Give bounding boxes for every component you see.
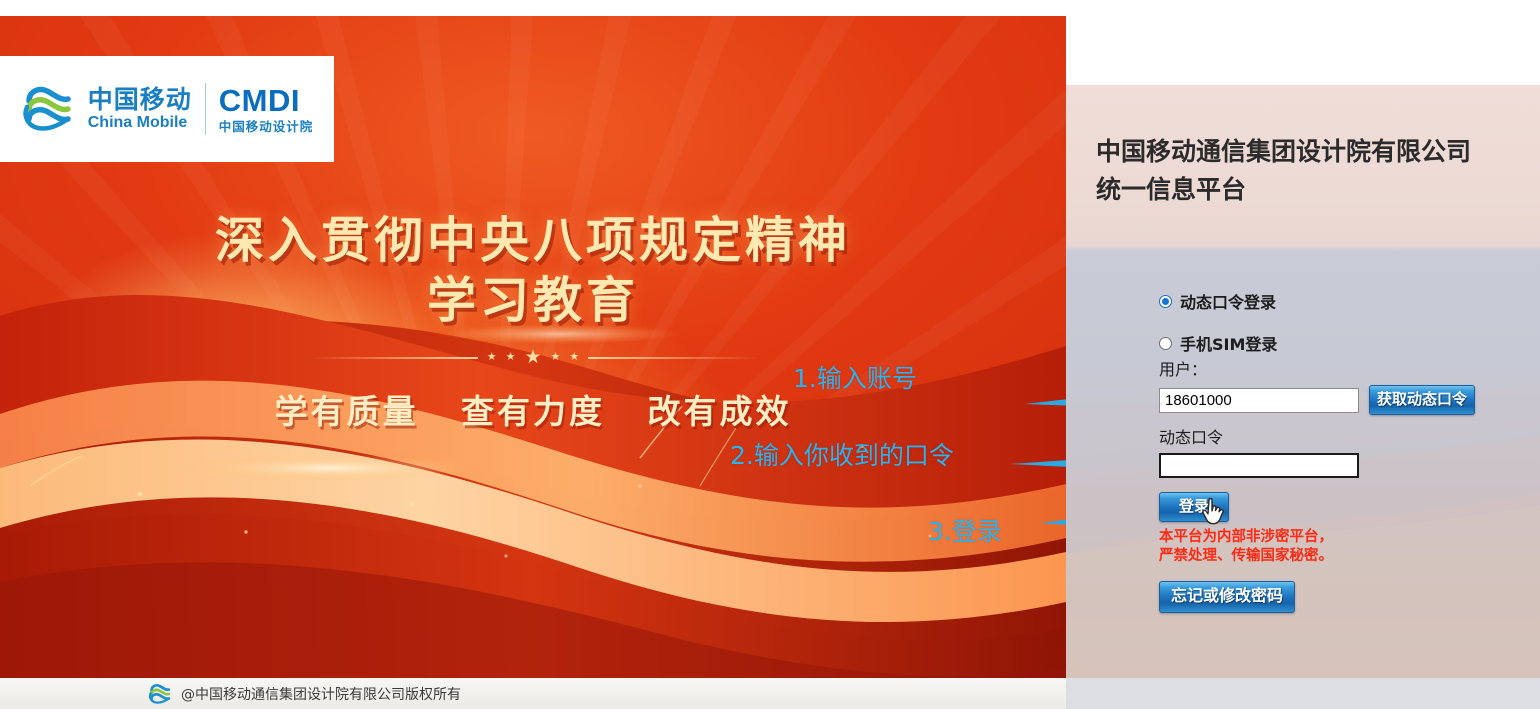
- login-panel: 中国移动通信集团设计院有限公司 统一信息平台 动态口令登录 手机SIM登录 用户…: [1066, 85, 1540, 678]
- panel-title-line-2: 统一信息平台: [1096, 171, 1516, 209]
- panel-title-line-1: 中国移动通信集团设计院有限公司: [1096, 133, 1516, 171]
- login-method-label-dynamic: 动态口令登录: [1180, 289, 1276, 313]
- security-warning-line-1: 本平台为内部非涉密平台，: [1159, 528, 1539, 547]
- top-white-strip: [0, 0, 1540, 16]
- logo-en-name: CMDI: [219, 85, 314, 116]
- footer-right-block: [1066, 678, 1540, 709]
- login-page: 深入贯彻中央八项规定精神 学习教育 ★ ★ ★ ★ ★ 学有质量 查有力度 改有…: [0, 0, 1540, 709]
- radio-dynamic-password-icon[interactable]: [1159, 295, 1172, 308]
- logo-en-sub: 中国移动设计院: [219, 121, 314, 134]
- login-method-dynamic-password[interactable]: 动态口令登录: [1159, 289, 1539, 313]
- radio-sim-icon[interactable]: [1159, 337, 1172, 350]
- logo-cn-sub: China Mobile: [88, 115, 192, 131]
- security-warning-line-2: 严禁处理、传输国家秘密。: [1159, 547, 1539, 566]
- token-input[interactable]: [1159, 453, 1359, 478]
- panel-title: 中国移动通信集团设计院有限公司 统一信息平台: [1096, 133, 1516, 209]
- login-form: 动态口令登录 手机SIM登录 用户： 获取动态口令 动态口令 登录 本平台为内部…: [1159, 289, 1539, 613]
- forgot-password-button[interactable]: 忘记或修改密码: [1159, 581, 1295, 613]
- security-warning: 本平台为内部非涉密平台， 严禁处理、传输国家秘密。: [1159, 528, 1539, 566]
- china-mobile-mark-icon: [148, 682, 172, 706]
- annotation-step-3: 3.登录: [928, 512, 1002, 548]
- logo-cn-name: 中国移动: [88, 87, 192, 112]
- china-mobile-logo-icon: [21, 83, 75, 135]
- page-footer: @中国移动通信集团设计院有限公司版权所有: [0, 678, 1540, 709]
- footer-copyright: @中国移动通信集团设计院有限公司版权所有: [181, 684, 461, 704]
- get-token-button[interactable]: 获取动态口令: [1369, 385, 1475, 415]
- login-method-label-sim: 手机SIM登录: [1180, 331, 1277, 355]
- annotation-step-1: 1.输入账号: [793, 359, 917, 395]
- login-button[interactable]: 登录: [1159, 492, 1229, 522]
- logo-divider: [205, 83, 206, 135]
- user-field-label: 用户：: [1159, 356, 1539, 380]
- annotation-step-2: 2.输入你收到的口令: [730, 436, 954, 472]
- login-method-sim[interactable]: 手机SIM登录: [1159, 331, 1539, 355]
- brand-logo: 中国移动 China Mobile CMDI 中国移动设计院: [0, 56, 334, 162]
- token-field-label: 动态口令: [1159, 424, 1539, 448]
- user-input[interactable]: [1159, 388, 1359, 413]
